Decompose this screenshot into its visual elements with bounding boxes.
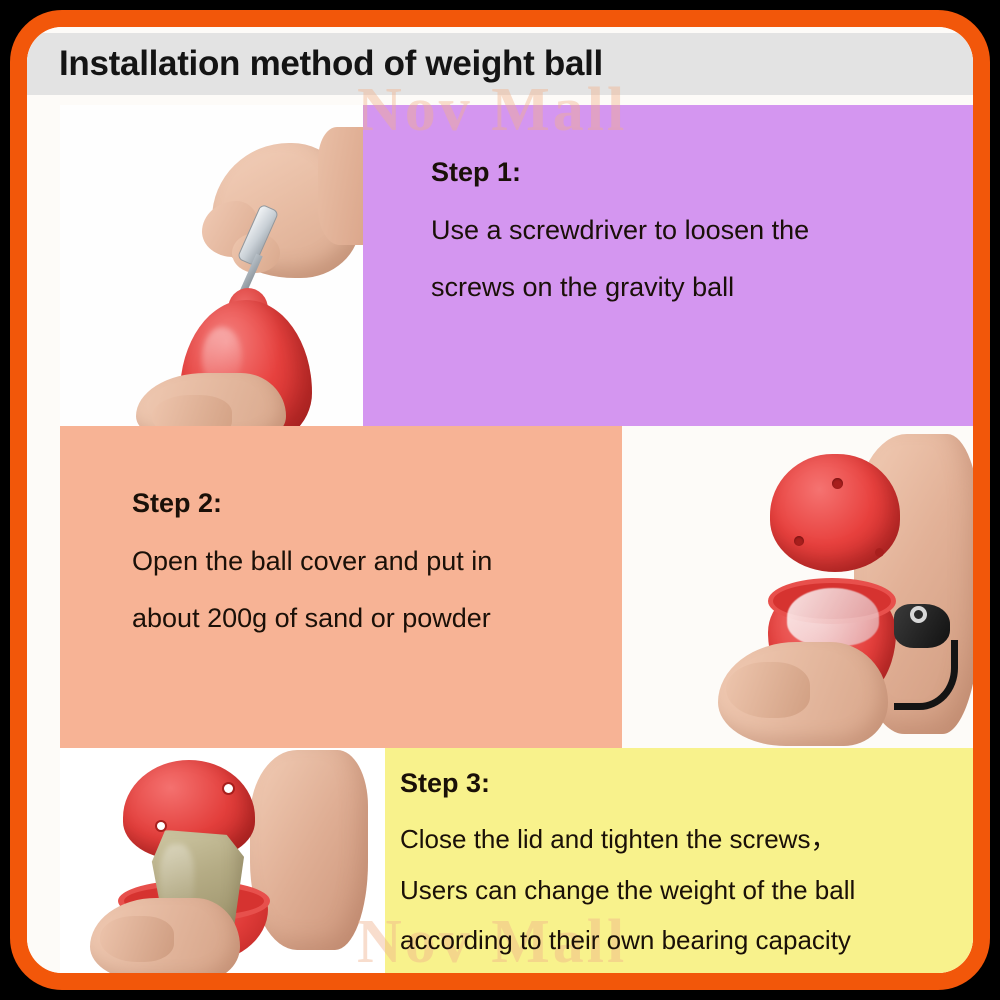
step2-text-block: Step 2: Open the ball cover and put in a… <box>60 426 622 634</box>
step3-photo <box>60 748 385 973</box>
plastic-wrap-shape <box>787 588 879 646</box>
screw-hole-icon <box>832 478 843 489</box>
photo-screwdriver-ball <box>60 105 363 426</box>
step3-text-block: Step 3: Close the lid and tighten the sc… <box>385 748 973 956</box>
step1-heading: Step 1: <box>431 157 973 188</box>
step1-line-2: screws on the gravity ball <box>431 272 973 303</box>
orange-frame: Installation method of weight ball Nov M… <box>10 10 990 990</box>
step3-line-1: Close the lid and tighten the screws， <box>400 819 973 856</box>
screw-hole-icon <box>875 548 884 557</box>
wrist-shape <box>318 127 363 245</box>
screw-hole-icon <box>794 536 804 546</box>
step2-line-1: Open the ball cover and put in <box>132 546 622 577</box>
frame-inner: Installation method of weight ball Nov M… <box>27 27 973 973</box>
thumb-shape <box>100 916 174 962</box>
hand-icon <box>250 750 368 950</box>
screw-hole-icon <box>157 822 165 830</box>
title-band: Installation method of weight ball <box>27 33 973 95</box>
poster-root: Installation method of weight ball Nov M… <box>0 0 1000 1000</box>
page-title: Installation method of weight ball <box>59 44 603 84</box>
step2-heading: Step 2: <box>132 488 622 519</box>
step3-line-3: according to their own bearing capacity <box>400 925 973 956</box>
screw-hole-icon <box>224 784 233 793</box>
step3-panel: Step 3: Close the lid and tighten the sc… <box>385 748 973 973</box>
step3-line-2: Users can change the weight of the ball <box>400 875 973 906</box>
step2-panel: Step 2: Open the ball cover and put in a… <box>60 426 622 748</box>
photo-opened-ball <box>622 426 973 748</box>
photo-sandbag-ball <box>60 748 385 973</box>
clip-ring-icon <box>910 606 927 623</box>
step1-text-block: Step 1: Use a screwdriver to loosen the … <box>363 105 973 303</box>
step3-heading: Step 3: <box>400 768 973 799</box>
thumb-shape <box>152 395 232 426</box>
step1-panel: Step 1: Use a screwdriver to loosen the … <box>363 105 973 426</box>
finger-shape <box>726 662 810 718</box>
step1-line-1: Use a screwdriver to loosen the <box>431 215 973 246</box>
step1-photo <box>60 105 363 426</box>
step2-line-2: about 200g of sand or powder <box>132 603 622 634</box>
step2-photo <box>622 426 973 748</box>
